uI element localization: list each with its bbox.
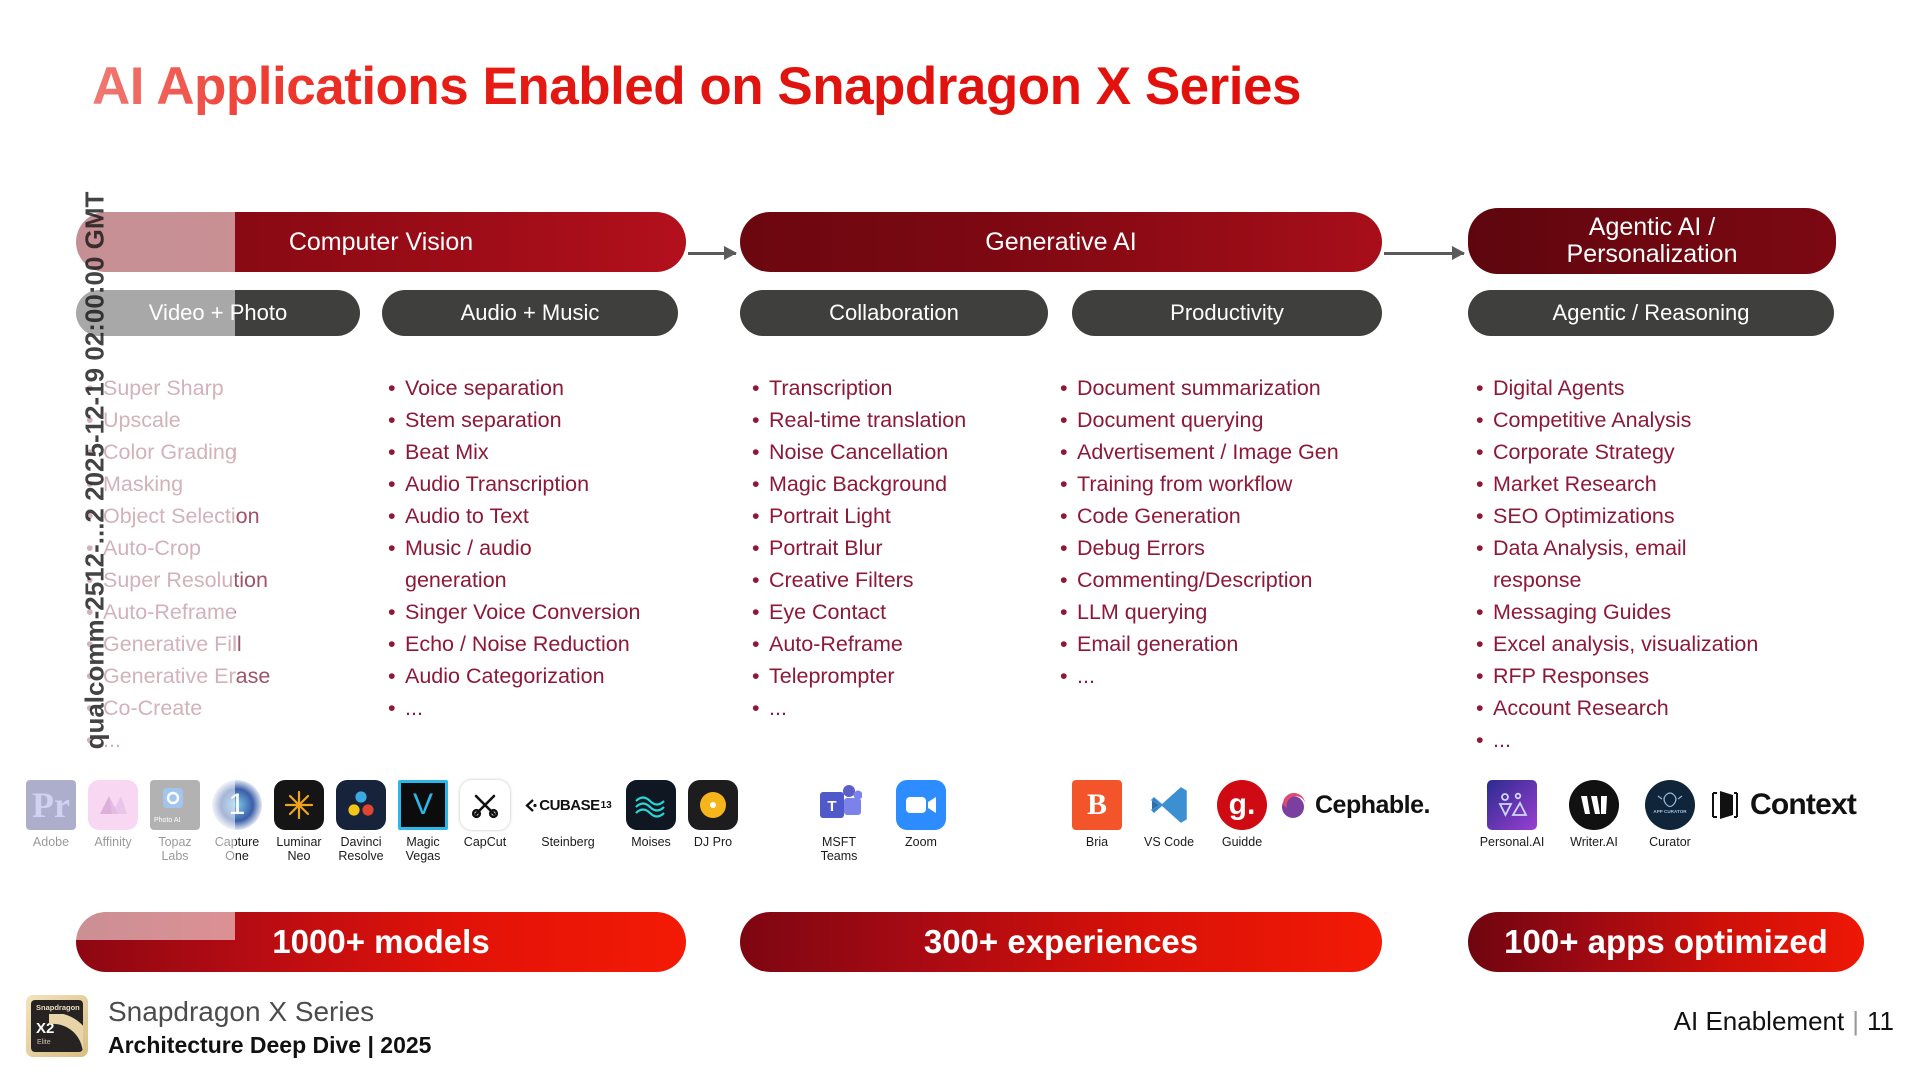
page-title: AI Applications Enabled on Snapdragon X …: [92, 56, 1301, 117]
logo-moises[interactable]: Moises: [620, 780, 682, 849]
svg-text:T: T: [827, 798, 836, 815]
list-item: Co-Create: [86, 692, 356, 724]
chip-brand: Snapdragon: [36, 1003, 80, 1012]
logo-capcut[interactable]: CapCut: [454, 780, 516, 849]
context-wordmark: Context: [1750, 788, 1856, 822]
davinci-resolve-icon: [336, 780, 386, 830]
list-item: ...: [86, 724, 356, 756]
arrow-gen-to-agentic: [1384, 252, 1464, 255]
logo-guidde[interactable]: g. Guidde: [1206, 780, 1278, 849]
logo-magic-vegas[interactable]: V Magic Vegas: [392, 780, 454, 863]
logo-caption: Curator: [1649, 835, 1691, 849]
list-item: Creative Filters: [752, 564, 1052, 596]
logo-caption: Zoom: [905, 835, 937, 849]
logo-davinci-resolve[interactable]: Davinci Resolve: [330, 780, 392, 863]
logo-row-computer-vision: Pr Adobe Affinity Photo AI Topaz Labs 1 …: [20, 780, 744, 863]
category-agentic-ai[interactable]: Agentic AI / Personalization: [1468, 208, 1836, 274]
logo-caption: Writer.AI: [1570, 835, 1618, 849]
list-item: Advertisement / Image Gen: [1060, 436, 1370, 468]
list-item: Color Grading: [86, 436, 356, 468]
logo-caption: Magic Vegas: [406, 835, 441, 863]
list-agentic: Digital AgentsCompetitive AnalysisCorpor…: [1476, 372, 1796, 756]
cubase-icon: CUBASE 13: [518, 780, 618, 830]
list-item: Super Resolution: [86, 564, 356, 596]
list-item: Corporate Strategy: [1476, 436, 1796, 468]
logo-caption: Personal.AI: [1480, 835, 1545, 849]
stat-experiences[interactable]: 300+ experiences: [740, 912, 1382, 972]
logo-caption: Adobe: [33, 835, 69, 849]
logo-vs-code[interactable]: VS Code: [1132, 780, 1206, 849]
list-item: Echo / Noise Reduction: [388, 628, 678, 660]
list-item: Training from workflow: [1060, 468, 1370, 500]
stat-apps[interactable]: 100+ apps optimized: [1468, 912, 1864, 972]
logo-caption: Steinberg: [541, 835, 595, 849]
list-item: Upscale: [86, 404, 356, 436]
cubase-version: 13: [601, 800, 612, 811]
logo-caption: Luminar Neo: [276, 835, 321, 863]
logo-caption: VS Code: [1144, 835, 1194, 849]
list-item: Auto-Reframe: [86, 596, 356, 628]
logo-caption: Capture One: [215, 835, 259, 863]
logo-caption: CapCut: [464, 835, 506, 849]
list-item: Stem separation: [388, 404, 678, 436]
list-item: Portrait Blur: [752, 532, 1052, 564]
list-item: Noise Cancellation: [752, 436, 1052, 468]
list-item: Transcription: [752, 372, 1052, 404]
zoom-icon: [896, 780, 946, 830]
moises-icon: [626, 780, 676, 830]
logo-caption: Guidde: [1222, 835, 1262, 849]
list-item: Singer Voice Conversion: [388, 596, 678, 628]
list-item: Code Generation: [1060, 500, 1370, 532]
logo-writer-ai[interactable]: Writer.AI: [1556, 780, 1632, 849]
cubase-wordmark: CUBASE: [539, 797, 599, 814]
list-item: Audio Categorization: [388, 660, 678, 692]
list-audio-music: Voice separationStem separationBeat MixA…: [388, 372, 678, 724]
curator-icon: APP CURATOR: [1645, 780, 1695, 830]
logo-capture-one[interactable]: 1 Capture One: [206, 780, 268, 863]
list-item: Audio Transcription: [388, 468, 678, 500]
snapdragon-chip-logo: Snapdragon X2 Elite: [26, 995, 88, 1057]
logo-adobe[interactable]: Pr Adobe: [20, 780, 82, 849]
capcut-icon: [460, 780, 510, 830]
logo-caption: DJ Pro: [694, 835, 732, 849]
logo-personal-ai[interactable]: Personal.AI: [1468, 780, 1556, 849]
list-item: Music / audio generation: [388, 532, 678, 596]
sub-agentic-reasoning[interactable]: Agentic / Reasoning: [1468, 290, 1834, 336]
footer-section: AI Enablement: [1674, 1006, 1845, 1036]
list-item: Generative Erase: [86, 660, 356, 692]
list-item: ...: [1060, 660, 1370, 692]
footer-separator: |: [1844, 1006, 1867, 1036]
list-item: Messaging Guides: [1476, 596, 1796, 628]
list-item: Real-time translation: [752, 404, 1052, 436]
list-item: Data Analysis, email response: [1476, 532, 1796, 596]
personal-ai-icon: [1487, 780, 1537, 830]
list-item: Excel analysis, visualization: [1476, 628, 1796, 660]
cephable-wordmark: Cephable.: [1315, 791, 1430, 820]
list-item: Beat Mix: [388, 436, 678, 468]
list-item: Super Sharp: [86, 372, 356, 404]
logo-zoom[interactable]: Zoom: [880, 780, 962, 849]
logo-caption: Moises: [631, 835, 671, 849]
logo-topaz-labs[interactable]: Photo AI Topaz Labs: [144, 780, 206, 863]
logo-msft-teams[interactable]: T MSFT Teams: [798, 780, 880, 863]
dj-pro-icon: [688, 780, 738, 830]
topaz-icon: Photo AI: [150, 780, 200, 830]
topaz-badge: Photo AI: [154, 817, 180, 824]
logo-bria[interactable]: B Bria: [1062, 780, 1132, 849]
sub-video-photo[interactable]: Video + Photo: [76, 290, 360, 336]
capture-one-icon: 1: [212, 780, 262, 830]
list-item: ...: [1476, 724, 1796, 756]
list-item: RFP Responses: [1476, 660, 1796, 692]
list-item: Magic Background: [752, 468, 1052, 500]
stat-models[interactable]: 1000+ models: [76, 912, 686, 972]
context-icon: Context: [1708, 780, 1856, 830]
logo-caption: Bria: [1086, 835, 1108, 849]
list-productivity: Document summarizationDocument queryingA…: [1060, 372, 1370, 692]
logo-row-generative-ai: T MSFT Teams Zoom B Bria: [798, 780, 1458, 863]
luminar-neo-icon: [274, 780, 324, 830]
list-item: Digital Agents: [1476, 372, 1796, 404]
list-item: Auto-Reframe: [752, 628, 1052, 660]
slide: AI Applications Enabled on Snapdragon X …: [0, 0, 1920, 1080]
writer-ai-icon: [1569, 780, 1619, 830]
sub-collaboration[interactable]: Collaboration: [740, 290, 1048, 336]
category-computer-vision[interactable]: Computer Vision: [76, 212, 686, 272]
logo-context[interactable]: Context: [1708, 780, 1918, 830]
logo-luminar-neo[interactable]: Luminar Neo: [268, 780, 330, 863]
logo-caption: Topaz Labs: [158, 835, 191, 863]
guidde-icon: g.: [1217, 780, 1267, 830]
list-item: Market Research: [1476, 468, 1796, 500]
list-video-photo: Super SharpUpscaleColor GradingMaskingOb…: [86, 372, 356, 756]
footer-subtitle: Architecture Deep Dive | 2025: [108, 1032, 431, 1059]
logo-curator[interactable]: APP CURATOR Curator: [1632, 780, 1708, 849]
list-item: Auto-Crop: [86, 532, 356, 564]
logo-affinity[interactable]: Affinity: [82, 780, 144, 849]
logo-dj-pro[interactable]: DJ Pro: [682, 780, 744, 849]
footer-product: Snapdragon X Series: [108, 996, 374, 1028]
list-item: Portrait Light: [752, 500, 1052, 532]
logo-cephable[interactable]: Cephable.: [1278, 780, 1458, 830]
footer-right: AI Enablement|11: [1674, 1006, 1894, 1037]
category-generative-ai[interactable]: Generative AI: [740, 212, 1382, 272]
list-item: Competitive Analysis: [1476, 404, 1796, 436]
logo-caption: Davinci Resolve: [338, 835, 383, 863]
list-item: Object Selection: [86, 500, 356, 532]
list-item: ...: [388, 692, 678, 724]
svg-text:APP CURATOR: APP CURATOR: [1653, 809, 1687, 814]
arrow-cv-to-gen: [688, 252, 736, 255]
list-collaboration: TranscriptionReal-time translationNoise …: [752, 372, 1052, 724]
list-item: Generative Fill: [86, 628, 356, 660]
list-item: ...: [752, 692, 1052, 724]
magic-vegas-icon: V: [398, 780, 448, 830]
list-item: Debug Errors: [1060, 532, 1370, 564]
list-item: Commenting/Description: [1060, 564, 1370, 596]
snapdragon-swirl-icon: [49, 1014, 83, 1052]
cephable-icon: Cephable.: [1278, 780, 1430, 830]
list-item: Voice separation: [388, 372, 678, 404]
logo-row-agentic-ai: Personal.AI Writer.AI APP CURATOR Curato…: [1468, 780, 1918, 849]
list-item: Document querying: [1060, 404, 1370, 436]
bria-icon: B: [1072, 780, 1122, 830]
footer-page-number: 11: [1867, 1006, 1894, 1036]
adobe-icon: Pr: [26, 780, 76, 830]
logo-steinberg[interactable]: CUBASE 13 Steinberg: [516, 780, 620, 849]
list-item: SEO Optimizations: [1476, 500, 1796, 532]
sub-audio-music[interactable]: Audio + Music: [382, 290, 678, 336]
list-item: Document summarization: [1060, 372, 1370, 404]
list-item: Audio to Text: [388, 500, 678, 532]
list-item: Eye Contact: [752, 596, 1052, 628]
msft-teams-icon: T: [814, 780, 864, 830]
list-item: Email generation: [1060, 628, 1370, 660]
list-item: LLM querying: [1060, 596, 1370, 628]
logo-caption: MSFT Teams: [821, 835, 858, 863]
sub-productivity[interactable]: Productivity: [1072, 290, 1382, 336]
list-item: Masking: [86, 468, 356, 500]
list-item: Teleprompter: [752, 660, 1052, 692]
affinity-icon: [88, 780, 138, 830]
list-item: Account Research: [1476, 692, 1796, 724]
logo-caption: Affinity: [94, 835, 131, 849]
vs-code-icon: [1144, 780, 1194, 830]
